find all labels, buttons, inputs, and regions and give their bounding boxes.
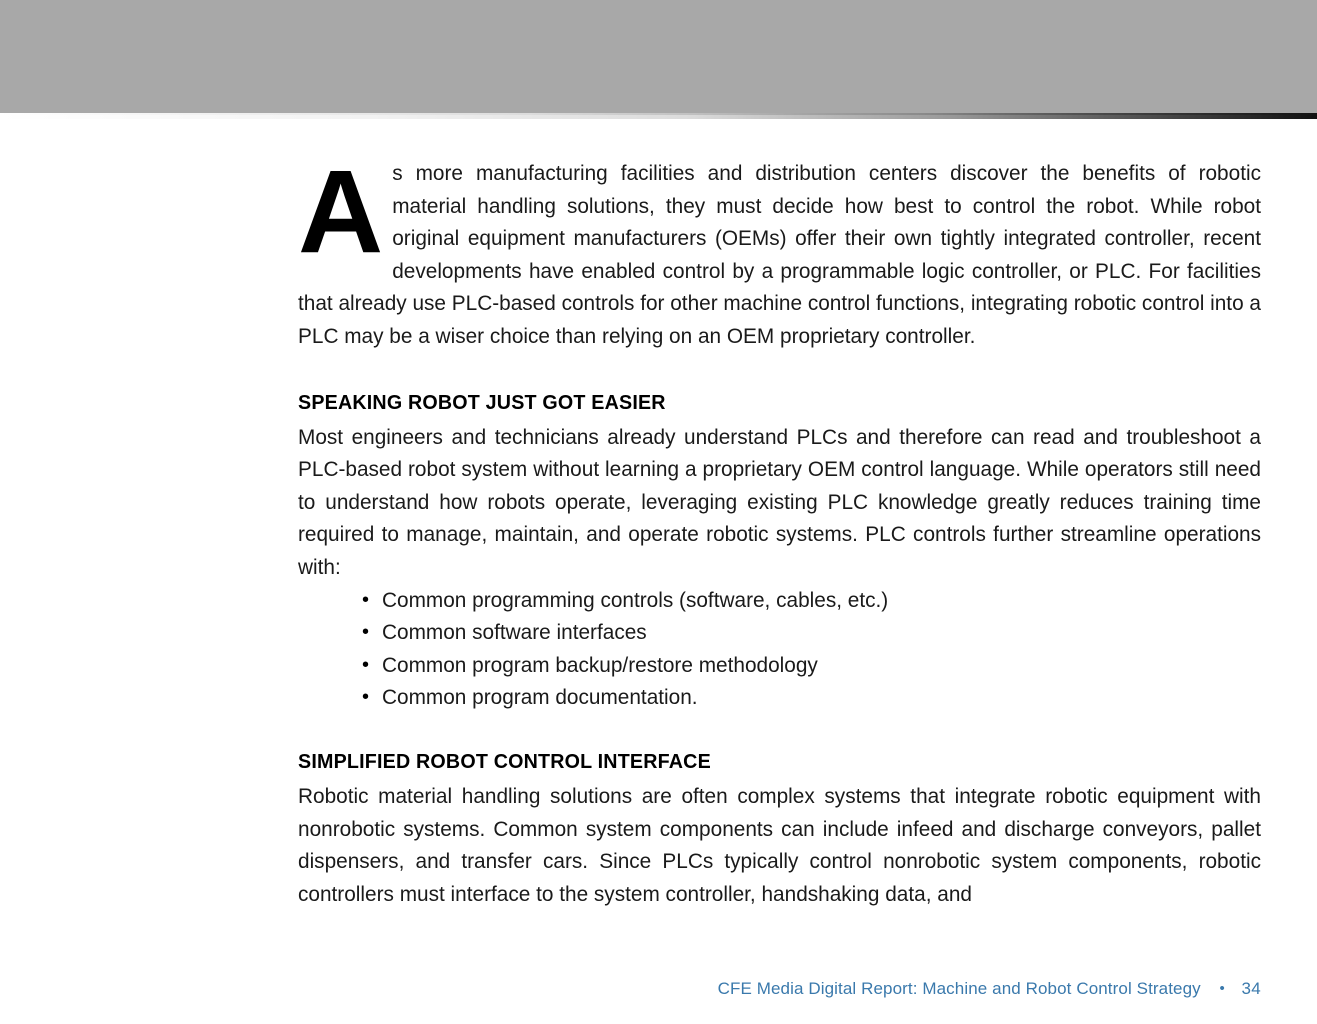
section-heading-speaking-robot: SPEAKING ROBOT JUST GOT EASIER: [298, 390, 1222, 416]
section-heading-simplified-interface: SIMPLIFIED ROBOT CONTROL INTERFACE: [298, 749, 1222, 775]
lead-paragraph-text: s more manufacturing facilities and dist…: [298, 162, 1261, 348]
footer-publication-label: CFE Media Digital Report: Machine and Ro…: [718, 979, 1201, 998]
section-paragraph-speaking-robot: Most engineers and technicians already u…: [298, 422, 1261, 585]
list-item: Common program documentation.: [362, 682, 1261, 715]
lead-paragraph: As more manufacturing facilities and dis…: [298, 158, 1261, 354]
page-footer: CFE Media Digital Report: Machine and Ro…: [0, 978, 1261, 1000]
article-body: As more manufacturing facilities and dis…: [298, 158, 1261, 911]
page-title: PLC-BASED VS. PROPRIETARY ROBOTIC CONTRO…: [62, 12, 1178, 113]
page-header-band: PLC-BASED VS. PROPRIETARY ROBOTIC CONTRO…: [0, 0, 1317, 113]
bullet-list: Common programming controls (software, c…: [298, 585, 1261, 715]
section-speaking-robot: SPEAKING ROBOT JUST GOT EASIER Most engi…: [298, 390, 1261, 715]
list-item: Common program backup/restore methodolog…: [362, 650, 1261, 683]
list-item: Common programming controls (software, c…: [362, 585, 1261, 618]
header-rule-shadow: [0, 113, 1317, 115]
footer-separator-dot: •: [1219, 978, 1224, 1000]
list-item: Common software interfaces: [362, 617, 1261, 650]
page-number: 34: [1241, 979, 1261, 998]
section-paragraph-simplified-interface: Robotic material handling solutions are …: [298, 781, 1261, 911]
drop-cap-letter: A: [298, 164, 382, 260]
section-simplified-interface: SIMPLIFIED ROBOT CONTROL INTERFACE Robot…: [298, 749, 1261, 911]
